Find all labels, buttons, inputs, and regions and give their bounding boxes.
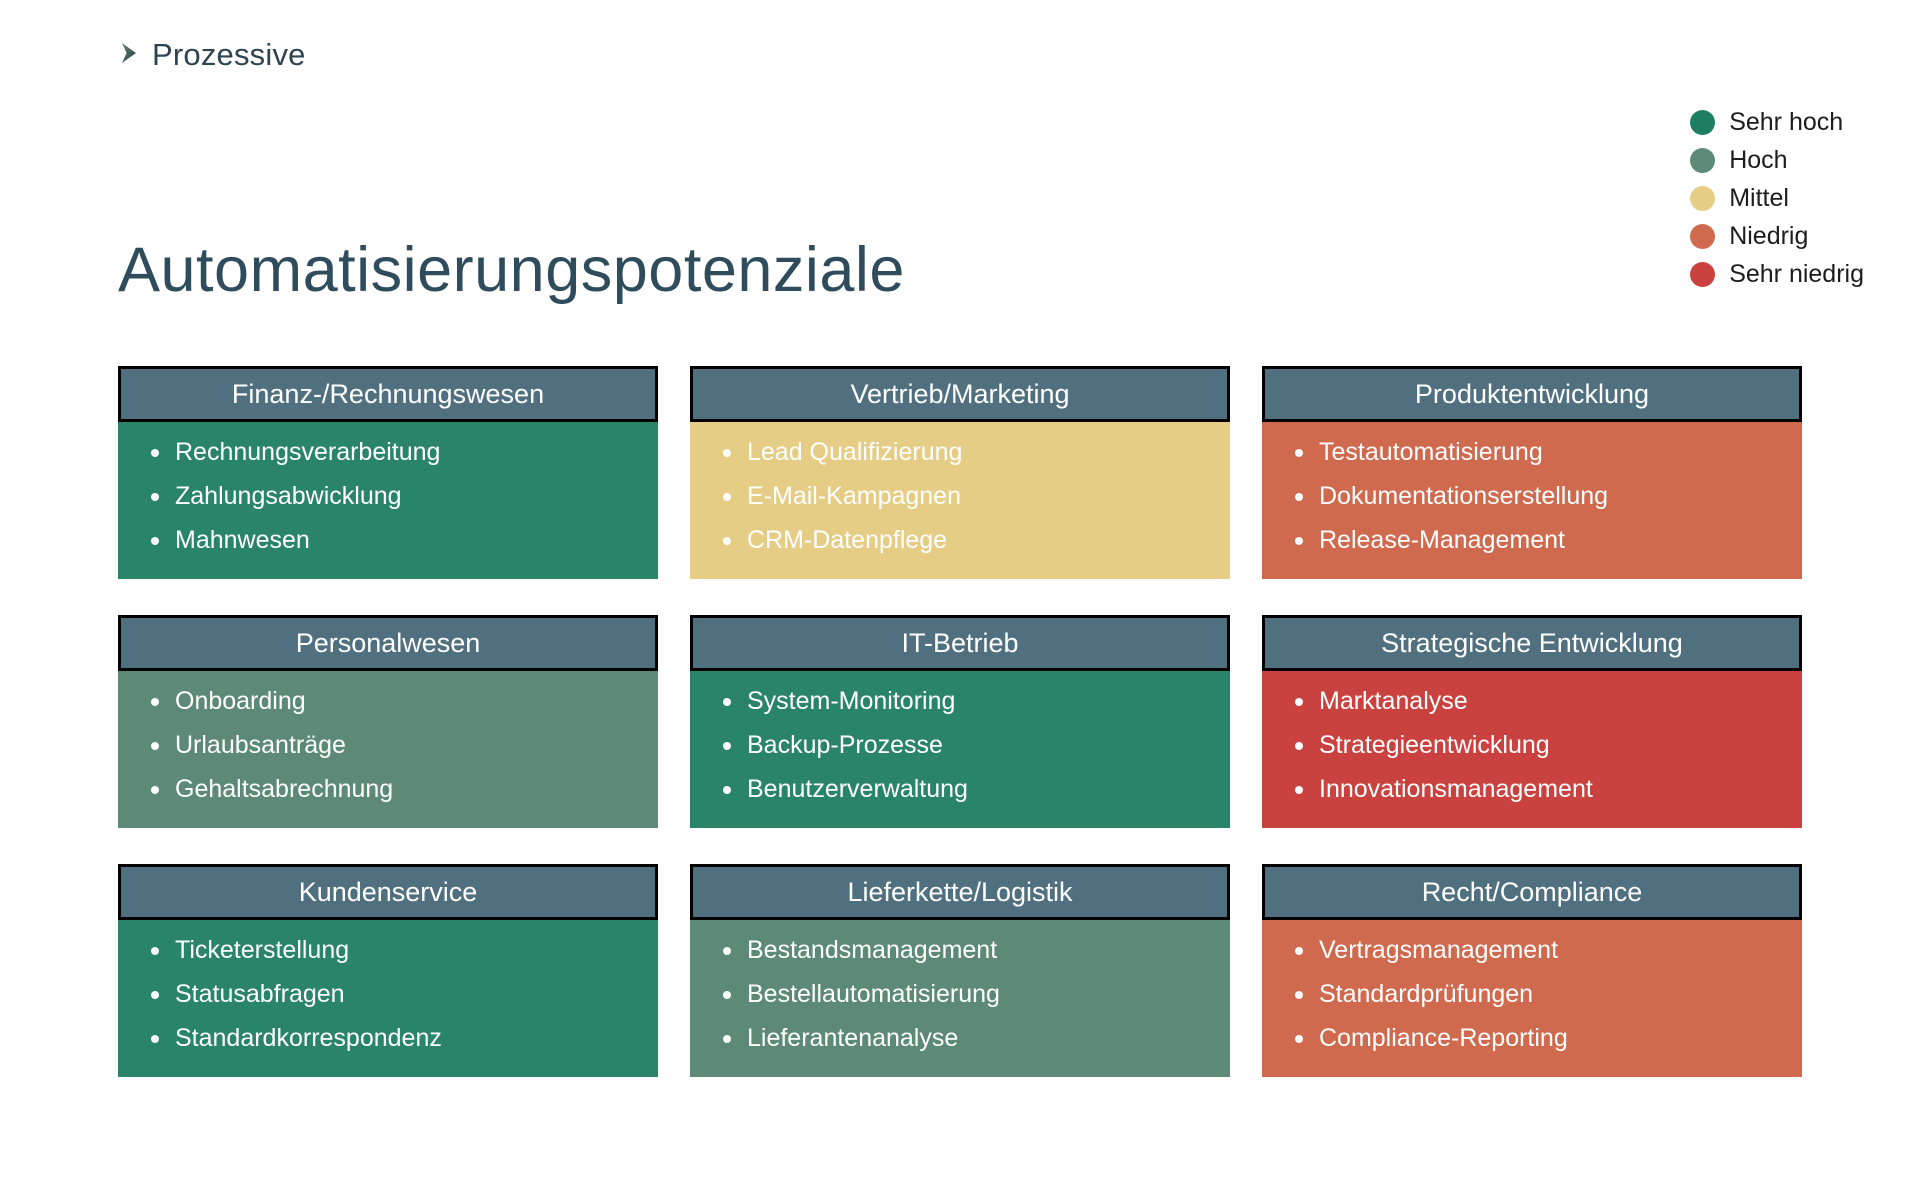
card-title: Lieferkette/Logistik — [847, 879, 1072, 906]
legend-color-swatch-icon — [1690, 110, 1715, 135]
card-body: Rechnungsverarbeitung Zahlungsabwicklung… — [118, 422, 658, 579]
legend-color-swatch-icon — [1690, 262, 1715, 287]
legend-color-swatch-icon — [1690, 148, 1715, 173]
list-item: Vertragsmanagement — [1292, 938, 1802, 963]
card-body: Testautomatisierung Dokumentationserstel… — [1262, 422, 1802, 579]
legend-item-hoch: Hoch — [1690, 148, 1787, 173]
card-body: System-Monitoring Backup-Prozesse Benutz… — [690, 671, 1230, 828]
card-item-list: Rechnungsverarbeitung Zahlungsabwicklung… — [148, 440, 658, 553]
list-item: Gehaltsabrechnung — [148, 777, 658, 802]
card-vertrieb-marketing: Vertrieb/Marketing Lead Qualifizierung E… — [690, 366, 1230, 579]
card-body: Marktanalyse Strategieentwicklung Innova… — [1262, 671, 1802, 828]
card-header: Produktentwicklung — [1262, 366, 1802, 422]
card-body: Ticketerstellung Statusabfragen Standard… — [118, 920, 658, 1077]
card-title: Recht/Compliance — [1422, 879, 1643, 906]
card-header: IT-Betrieb — [690, 615, 1230, 671]
list-item: Dokumentationserstellung — [1292, 484, 1802, 509]
card-item-list: Vertragsmanagement Standardprüfungen Com… — [1292, 938, 1802, 1051]
card-title: IT-Betrieb — [901, 630, 1018, 657]
list-item: Bestandsmanagement — [720, 938, 1230, 963]
card-personalwesen: Personalwesen Onboarding Urlaubsanträge … — [118, 615, 658, 828]
legend-color-swatch-icon — [1690, 186, 1715, 211]
legend-item-label: Niedrig — [1729, 224, 1808, 249]
card-header: Lieferkette/Logistik — [690, 864, 1230, 920]
brand-name: Prozessive — [152, 39, 306, 70]
legend: Sehr hoch Hoch Mittel Niedrig Sehr niedr… — [1690, 110, 1864, 287]
chevron-logo-icon — [114, 36, 148, 70]
list-item: E-Mail-Kampagnen — [720, 484, 1230, 509]
legend-item-label: Hoch — [1729, 148, 1787, 173]
card-header: Finanz-/Rechnungswesen — [118, 366, 658, 422]
legend-item-sehr-niedrig: Sehr niedrig — [1690, 262, 1864, 287]
list-item: Standardprüfungen — [1292, 982, 1802, 1007]
list-item: Rechnungsverarbeitung — [148, 440, 658, 465]
list-item: Standardkorrespondenz — [148, 1026, 658, 1051]
card-title: Strategische Entwicklung — [1381, 630, 1683, 657]
list-item: Release-Management — [1292, 528, 1802, 553]
card-header: Kundenservice — [118, 864, 658, 920]
legend-item-sehr-hoch: Sehr hoch — [1690, 110, 1843, 135]
list-item: Innovationsmanagement — [1292, 777, 1802, 802]
list-item: Compliance-Reporting — [1292, 1026, 1802, 1051]
legend-color-swatch-icon — [1690, 224, 1715, 249]
card-title: Personalwesen — [296, 630, 481, 657]
card-body: Vertragsmanagement Standardprüfungen Com… — [1262, 920, 1802, 1077]
card-header: Vertrieb/Marketing — [690, 366, 1230, 422]
list-item: Urlaubsanträge — [148, 733, 658, 758]
list-item: Lieferantenanalyse — [720, 1026, 1230, 1051]
list-item: Mahnwesen — [148, 528, 658, 553]
card-item-list: Lead Qualifizierung E-Mail-Kampagnen CRM… — [720, 440, 1230, 553]
list-item: Strategieentwicklung — [1292, 733, 1802, 758]
card-item-list: System-Monitoring Backup-Prozesse Benutz… — [720, 689, 1230, 802]
card-produktentwicklung: Produktentwicklung Testautomatisierung D… — [1262, 366, 1802, 579]
legend-item-label: Mittel — [1729, 186, 1789, 211]
card-kundenservice: Kundenservice Ticketerstellung Statusabf… — [118, 864, 658, 1077]
card-lieferkette-logistik: Lieferkette/Logistik Bestandsmanagement … — [690, 864, 1230, 1077]
list-item: Backup-Prozesse — [720, 733, 1230, 758]
list-item: Ticketerstellung — [148, 938, 658, 963]
card-strategische-entwicklung: Strategische Entwicklung Marktanalyse St… — [1262, 615, 1802, 828]
page-title: Automatisierungspotenziale — [118, 239, 905, 302]
legend-item-niedrig: Niedrig — [1690, 224, 1808, 249]
list-item: System-Monitoring — [720, 689, 1230, 714]
list-item: Statusabfragen — [148, 982, 658, 1007]
list-item: Benutzerverwaltung — [720, 777, 1230, 802]
list-item: Lead Qualifizierung — [720, 440, 1230, 465]
card-recht-compliance: Recht/Compliance Vertragsmanagement Stan… — [1262, 864, 1802, 1077]
card-item-list: Marktanalyse Strategieentwicklung Innova… — [1292, 689, 1802, 802]
card-body: Lead Qualifizierung E-Mail-Kampagnen CRM… — [690, 422, 1230, 579]
legend-item-label: Sehr hoch — [1729, 110, 1843, 135]
list-item: Zahlungsabwicklung — [148, 484, 658, 509]
card-title: Finanz-/Rechnungswesen — [232, 381, 544, 408]
card-item-list: Testautomatisierung Dokumentationserstel… — [1292, 440, 1802, 553]
legend-item-label: Sehr niedrig — [1729, 262, 1864, 287]
list-item: Testautomatisierung — [1292, 440, 1802, 465]
list-item: CRM-Datenpflege — [720, 528, 1230, 553]
list-item: Bestellautomatisierung — [720, 982, 1230, 1007]
card-header: Strategische Entwicklung — [1262, 615, 1802, 671]
card-header: Personalwesen — [118, 615, 658, 671]
legend-item-mittel: Mittel — [1690, 186, 1789, 211]
card-finanz-rechnungswesen: Finanz-/Rechnungswesen Rechnungsverarbei… — [118, 366, 658, 579]
card-title: Kundenservice — [299, 879, 478, 906]
list-item: Marktanalyse — [1292, 689, 1802, 714]
card-header: Recht/Compliance — [1262, 864, 1802, 920]
card-title: Vertrieb/Marketing — [850, 381, 1069, 408]
card-it-betrieb: IT-Betrieb System-Monitoring Backup-Proz… — [690, 615, 1230, 828]
list-item: Onboarding — [148, 689, 658, 714]
card-item-list: Onboarding Urlaubsanträge Gehaltsabrechn… — [148, 689, 658, 802]
card-body: Bestandsmanagement Bestellautomatisierun… — [690, 920, 1230, 1077]
card-item-list: Bestandsmanagement Bestellautomatisierun… — [720, 938, 1230, 1051]
card-grid: Finanz-/Rechnungswesen Rechnungsverarbei… — [118, 366, 1802, 1077]
brand-logo: Prozessive — [114, 36, 306, 70]
card-body: Onboarding Urlaubsanträge Gehaltsabrechn… — [118, 671, 658, 828]
card-item-list: Ticketerstellung Statusabfragen Standard… — [148, 938, 658, 1051]
card-title: Produktentwicklung — [1415, 381, 1649, 408]
